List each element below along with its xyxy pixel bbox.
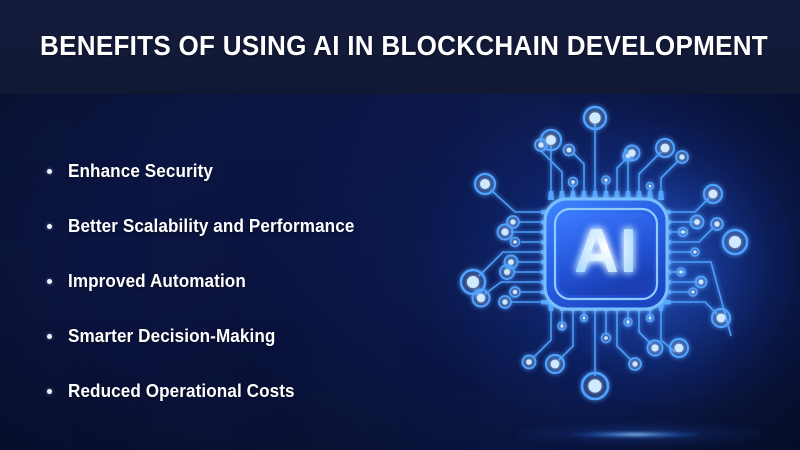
- benefit-label: Smarter Decision-Making: [68, 326, 275, 347]
- bullet-dot-icon: [47, 224, 52, 229]
- page-title: BENEFITS OF USING AI IN BLOCKCHAIN DEVEL…: [40, 30, 768, 62]
- header-bar: BENEFITS OF USING AI IN BLOCKCHAIN DEVEL…: [0, 0, 800, 94]
- slide-canvas: BENEFITS OF USING AI IN BLOCKCHAIN DEVEL…: [0, 0, 800, 450]
- list-item: Improved Automation: [40, 254, 460, 309]
- list-item: Better Scalability and Performance: [40, 199, 460, 254]
- benefits-list: Enhance Security Better Scalability and …: [40, 144, 460, 419]
- bullet-dot-icon: [47, 389, 52, 394]
- list-item: Enhance Security: [40, 144, 460, 199]
- benefit-label: Enhance Security: [68, 161, 213, 182]
- bullet-dot-icon: [47, 279, 52, 284]
- content-area: Enhance Security Better Scalability and …: [0, 94, 800, 450]
- list-item: Smarter Decision-Making: [40, 309, 460, 364]
- ai-chip-illustration: AI: [455, 94, 800, 450]
- list-item: Reduced Operational Costs: [40, 364, 460, 419]
- bullet-dot-icon: [47, 334, 52, 339]
- benefit-label: Better Scalability and Performance: [68, 216, 354, 237]
- benefit-label: Improved Automation: [68, 271, 246, 292]
- bullet-dot-icon: [47, 169, 52, 174]
- benefit-label: Reduced Operational Costs: [68, 381, 295, 402]
- chip-label: AI: [574, 217, 638, 286]
- chip-circuit-svg: AI: [455, 94, 800, 450]
